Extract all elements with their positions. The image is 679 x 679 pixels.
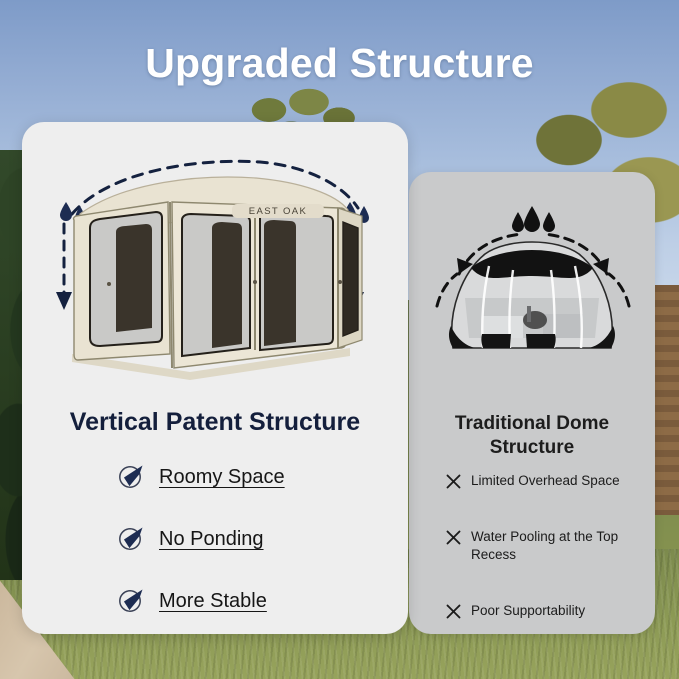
dome-body [449,242,615,348]
dome-drawback-list: Limited Overhead Space Water Pooling at … [445,472,645,658]
x-mark-icon [445,603,462,620]
page-title: Upgraded Structure [0,40,679,87]
list-item-label: No Ponding [159,526,264,551]
list-item-label: Poor Supportability [471,602,585,620]
right-card-heading: Traditional Dome Structure [419,412,645,460]
x-mark-icon [445,529,462,546]
x-mark-icon [445,473,462,490]
check-circle-icon [118,586,145,613]
list-item: Roomy Space [118,464,408,489]
list-item: No Ponding [118,526,408,551]
infographic-stage: Upgraded Structure [0,0,679,679]
check-circle-icon [118,462,145,489]
list-item: More Stable [118,588,408,613]
list-item-label: Water Pooling at the Top Recess [471,528,645,564]
vertical-patent-card: EAST OAK Vertical Patent Structure Roomy… [22,122,408,634]
traditional-dome-card: Traditional Dome Structure Limited Overh… [409,172,655,634]
brand-label: EAST OAK [249,206,308,217]
list-item: Poor Supportability [445,602,645,620]
list-item: Limited Overhead Space [445,472,645,490]
vertical-wall-canopy-illustration: EAST OAK [50,158,380,388]
list-item-label: More Stable [159,588,267,613]
water-droplet-group [512,206,555,232]
canopy-body: EAST OAK [72,177,362,380]
vertical-benefit-list: Roomy Space No Ponding [118,464,408,650]
check-circle-icon [118,524,145,551]
left-card-heading: Vertical Patent Structure [22,408,408,437]
dome-canopy-illustration [423,198,641,378]
list-item: Water Pooling at the Top Recess [445,528,645,564]
list-item-label: Roomy Space [159,464,285,489]
list-item-label: Limited Overhead Space [471,472,620,490]
